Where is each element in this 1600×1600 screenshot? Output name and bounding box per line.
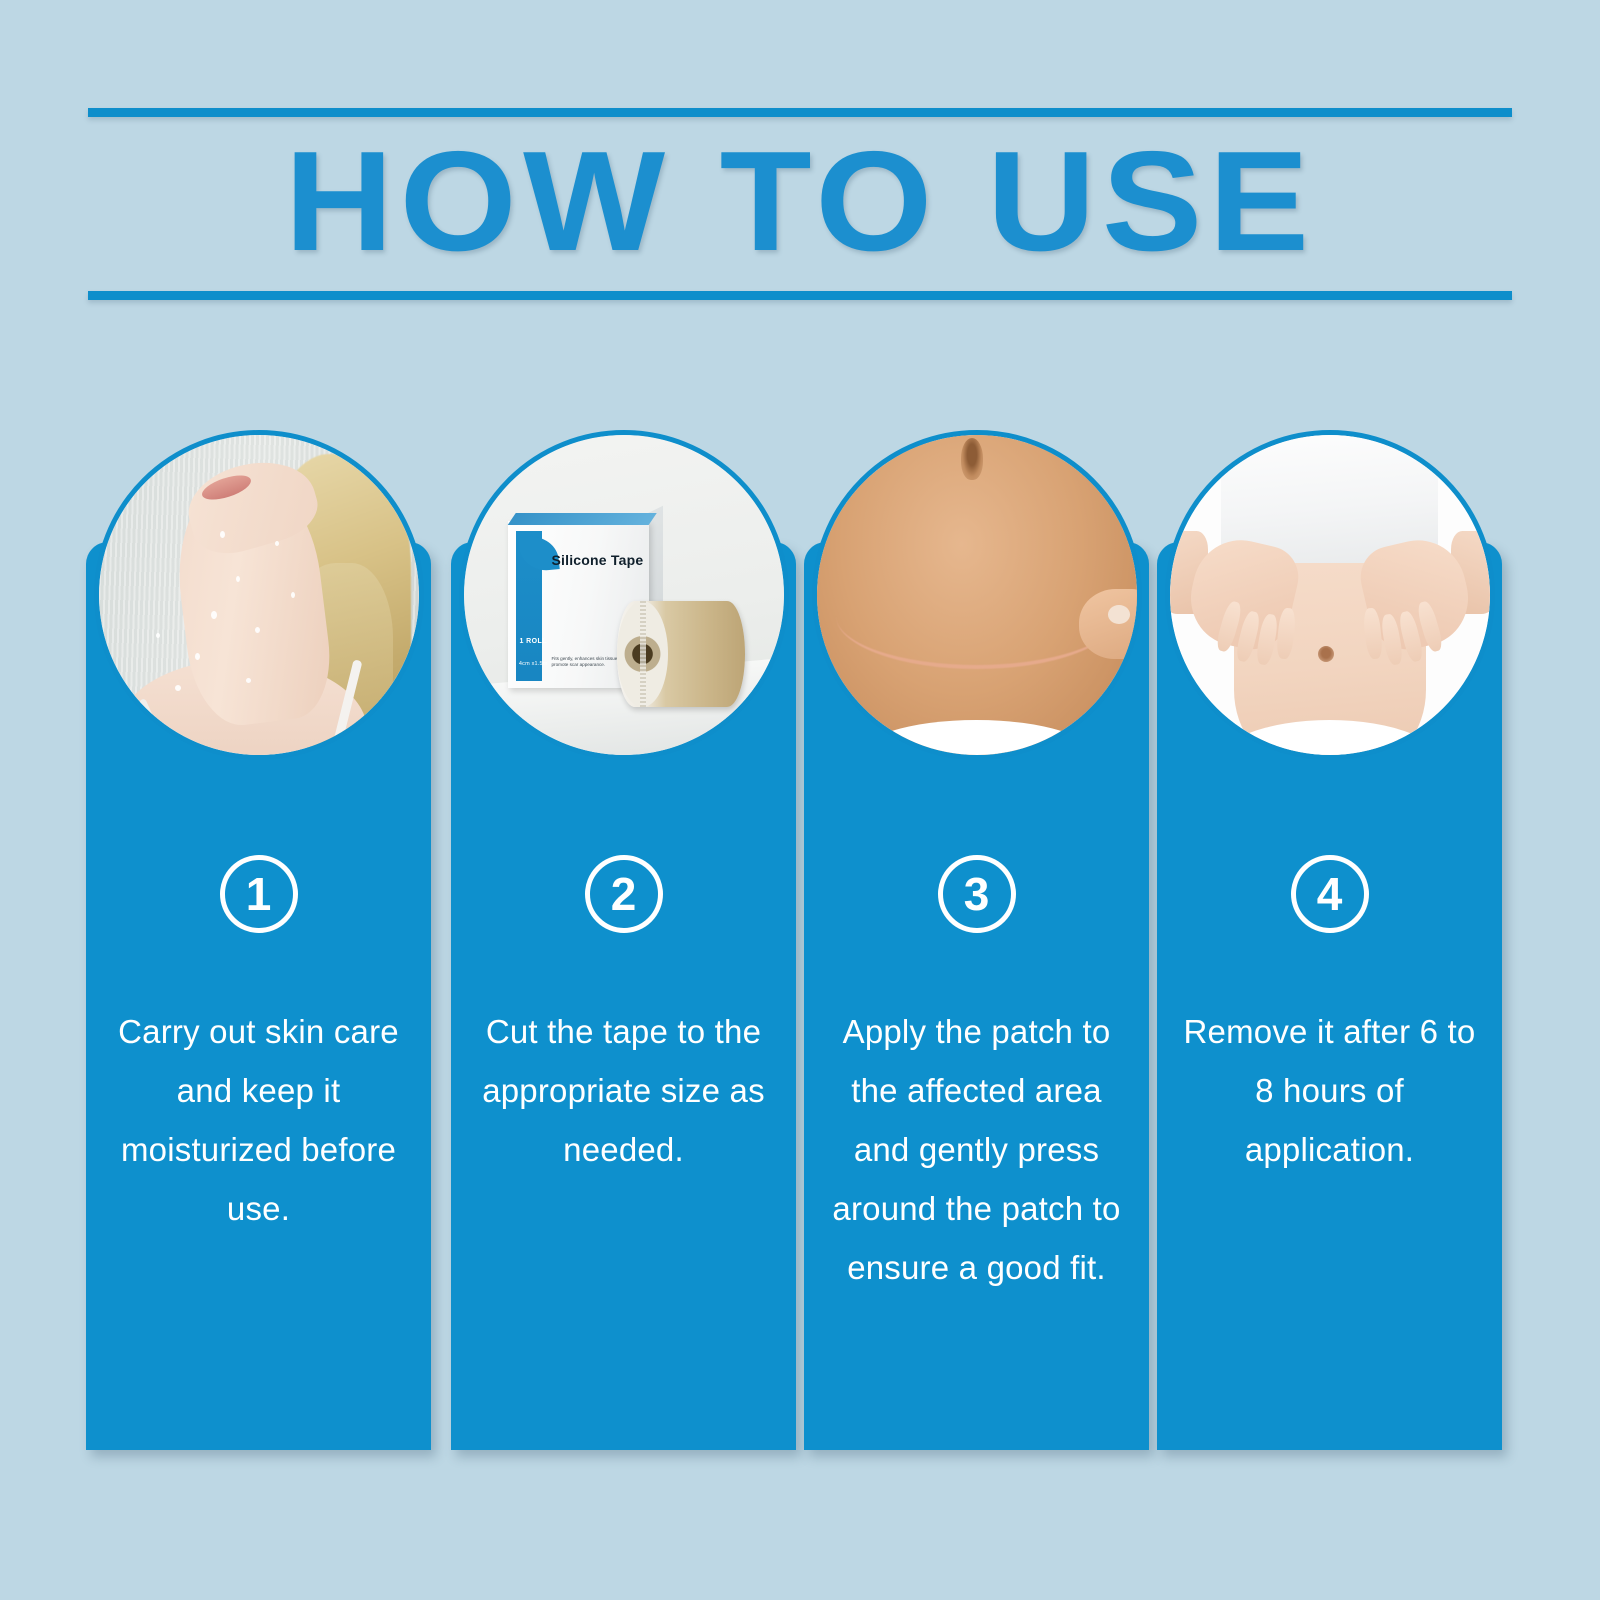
- step-number-badge-4: 4: [1291, 855, 1369, 933]
- page-header: HOW TO USE: [88, 108, 1512, 308]
- step-card-1: 1 Carry out skin care and keep it moistu…: [86, 542, 431, 1450]
- step-number-badge-2: 2: [585, 855, 663, 933]
- page-title: HOW TO USE: [45, 122, 1554, 282]
- step-3-photo: [812, 430, 1142, 760]
- step-caption-2: Cut the tape to the appropriate size as …: [473, 1002, 774, 1179]
- step-number-badge-1: 1: [220, 855, 298, 933]
- product-name-label: Silicone Tape: [552, 552, 644, 568]
- step-number-badge-3: 3: [938, 855, 1016, 933]
- step-1-photo: [94, 430, 424, 760]
- abdomen-scar-image: [817, 435, 1137, 755]
- step-2-photo: Silicone Tape 1 ROLL 4cm x1.5m Fits gent…: [459, 430, 789, 760]
- step-card-4: 4 Remove it after 6 to 8 hours of applic…: [1157, 542, 1502, 1450]
- header-rule-bottom: [88, 291, 1512, 300]
- step-caption-3: Apply the patch to the affected area and…: [826, 1002, 1127, 1297]
- midriff-hands-image: [1170, 435, 1490, 755]
- steps-container: 1 Carry out skin care and keep it moistu…: [86, 430, 1518, 1450]
- header-rule-top: [88, 108, 1512, 117]
- step-card-3: 3 Apply the patch to the affected area a…: [804, 542, 1149, 1450]
- product-quantity-label: 1 ROLL: [520, 638, 547, 645]
- silicone-tape-product-image: Silicone Tape 1 ROLL 4cm x1.5m Fits gent…: [464, 435, 784, 755]
- step-4-photo: [1165, 430, 1495, 760]
- step-caption-1: Carry out skin care and keep it moisturi…: [108, 1002, 409, 1238]
- product-size-label: 4cm x1.5m: [519, 661, 548, 667]
- shower-woman-image: [99, 435, 419, 755]
- step-card-2: Silicone Tape 1 ROLL 4cm x1.5m Fits gent…: [451, 542, 796, 1450]
- step-caption-4: Remove it after 6 to 8 hours of applicat…: [1179, 1002, 1480, 1179]
